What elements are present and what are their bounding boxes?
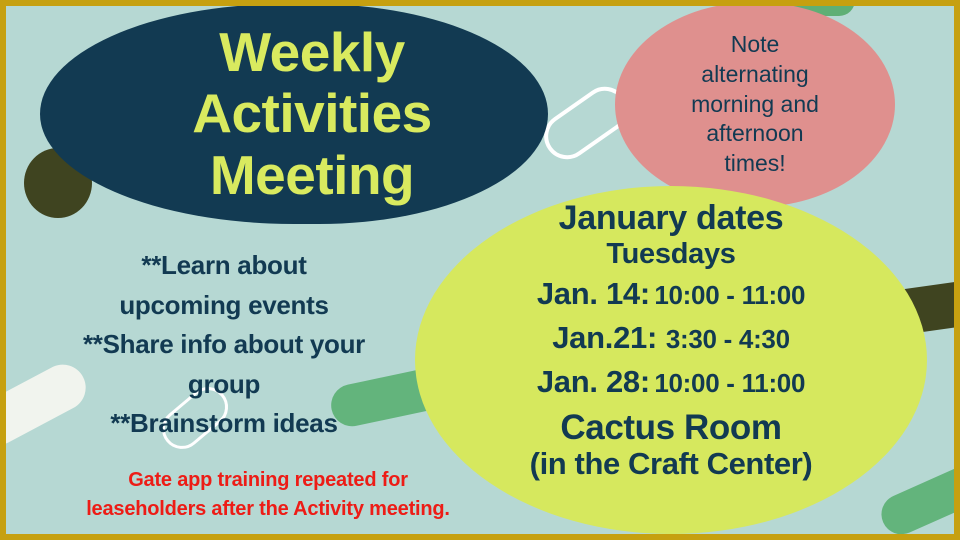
- bullet-list: **Learn about upcoming events **Share in…: [34, 246, 414, 444]
- date-time: 3:30 - 4:30: [666, 324, 790, 354]
- bullet-line-4: group: [34, 365, 414, 405]
- red-note-line-2: leaseholders after the Activity meeting.: [8, 495, 528, 524]
- page-title: Weekly Activities Meeting: [40, 22, 548, 207]
- note-line-4: afternoon: [706, 120, 803, 146]
- date-label: Jan. 14:: [537, 276, 650, 311]
- date-time: 10:00 - 11:00: [654, 280, 805, 310]
- date-row: Jan. 14: 10:00 - 11:00: [415, 272, 927, 316]
- date-time: 10:00 - 11:00: [654, 368, 805, 398]
- dates-heading: January dates: [415, 200, 927, 237]
- note-line-2: alternating: [701, 61, 808, 87]
- bullet-line-2: upcoming events: [34, 286, 414, 326]
- date-label: Jan. 28:: [537, 364, 650, 399]
- title-line-1: Weekly: [76, 22, 548, 84]
- note-line-1: Note: [731, 31, 780, 57]
- bullet-line-1: **Learn about: [34, 246, 414, 286]
- red-footer-note: Gate app training repeated for leasehold…: [8, 466, 528, 524]
- title-line-2: Activities: [76, 83, 548, 145]
- note-line-3: morning and: [691, 91, 819, 117]
- bullet-line-5: **Brainstorm ideas: [34, 404, 414, 444]
- note-line-5: times!: [724, 150, 785, 176]
- red-note-line-1: Gate app training repeated for: [8, 466, 528, 495]
- date-row: Jan. 28: 10:00 - 11:00: [415, 360, 927, 404]
- room-name: Cactus Room: [415, 408, 927, 447]
- date-label: Jan.21:: [552, 320, 657, 355]
- dates-subheading: Tuesdays: [415, 237, 927, 272]
- note-ellipse: Note alternating morning and afternoon t…: [615, 2, 895, 207]
- bullet-line-3: **Share info about your: [34, 325, 414, 365]
- date-row: Jan.21: 3:30 - 4:30: [415, 316, 927, 360]
- flyer-slide: Weekly Activities Meeting Note alternati…: [0, 0, 960, 540]
- note-text: Note alternating morning and afternoon t…: [655, 30, 855, 179]
